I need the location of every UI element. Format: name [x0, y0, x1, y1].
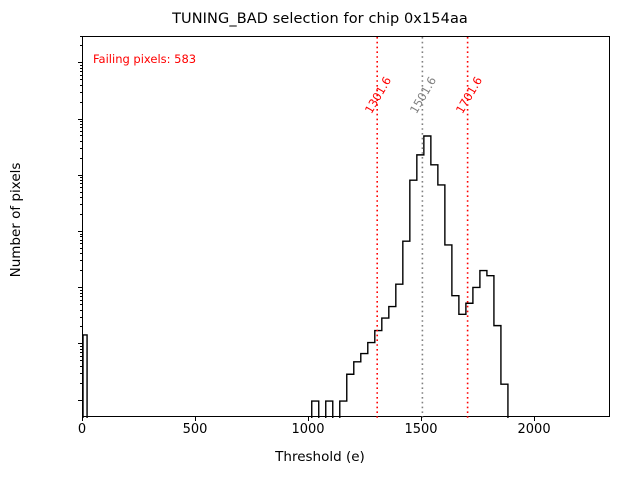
y-minor-tick-mark [80, 234, 83, 235]
y-minor-tick-mark [80, 352, 83, 353]
y-minor-tick-mark [80, 260, 83, 261]
y-minor-tick-mark [80, 304, 83, 305]
y-minor-tick-mark [80, 148, 83, 149]
x-tick-label: 2000 [518, 422, 551, 437]
y-minor-tick-mark [80, 300, 83, 301]
y-minor-tick-mark [80, 366, 83, 367]
y-minor-tick-mark [80, 373, 83, 374]
y-minor-tick-mark [80, 124, 83, 125]
chart-title: TUNING_BAD selection for chip 0x154aa [0, 11, 640, 27]
y-tick-mark [78, 231, 82, 232]
y-minor-tick-mark [80, 290, 83, 291]
y-minor-tick-mark [80, 85, 83, 86]
y-minor-tick-mark [80, 180, 83, 181]
y-tick-mark [78, 287, 82, 288]
y-minor-tick-mark [80, 135, 83, 136]
x-tick-mark [534, 417, 535, 421]
x-tick-mark [195, 417, 196, 421]
y-minor-tick-mark [80, 68, 83, 69]
y-minor-tick-mark [80, 131, 83, 132]
y-minor-tick-mark [80, 65, 83, 66]
y-minor-tick-mark [80, 296, 83, 297]
y-minor-tick-mark [80, 79, 83, 80]
x-tick-mark [421, 417, 422, 421]
x-axis-label: Threshold (e) [0, 449, 640, 465]
y-tick-mark [78, 400, 82, 401]
y-minor-tick-mark [80, 383, 83, 384]
y-minor-tick-mark [80, 204, 83, 205]
x-tick-label: 500 [183, 422, 208, 437]
y-minor-tick-mark [80, 177, 83, 178]
y-minor-tick-mark [80, 270, 83, 271]
y-minor-tick-mark [80, 36, 83, 37]
y-minor-tick-mark [80, 326, 83, 327]
y-minor-tick-mark [80, 141, 83, 142]
y-minor-tick-mark [80, 45, 83, 46]
failing-pixels-annotation: Failing pixels: 583 [93, 52, 196, 66]
y-minor-tick-mark [80, 197, 83, 198]
y-minor-tick-mark [80, 121, 83, 122]
y-minor-tick-mark [80, 346, 83, 347]
y-tick-mark [78, 175, 82, 176]
figure-canvas: TUNING_BAD selection for chip 0x154aa Fa… [0, 0, 640, 480]
y-minor-tick-mark [80, 317, 83, 318]
y-minor-tick-mark [80, 183, 83, 184]
y-minor-tick-mark [80, 92, 83, 93]
y-minor-tick-mark [80, 236, 83, 237]
y-tick-mark [78, 62, 82, 63]
y-minor-tick-mark [80, 293, 83, 294]
y-minor-tick-mark [80, 253, 83, 254]
y-tick-mark [78, 343, 82, 344]
y-minor-tick-mark [80, 240, 83, 241]
histogram-outline [83, 136, 508, 418]
x-tick-mark [308, 417, 309, 421]
plot-area[interactable]: Failing pixels: 583 [82, 36, 610, 417]
y-minor-tick-mark [80, 360, 83, 361]
histogram-plot [83, 37, 611, 418]
y-minor-tick-mark [80, 356, 83, 357]
y-axis-label: Number of pixels [8, 120, 24, 320]
y-minor-tick-mark [80, 187, 83, 188]
y-minor-tick-mark [80, 75, 83, 76]
y-minor-tick-mark [80, 71, 83, 72]
y-minor-tick-mark [80, 127, 83, 128]
y-minor-tick-mark [80, 349, 83, 350]
y-minor-tick-mark [80, 243, 83, 244]
y-minor-tick-mark [80, 214, 83, 215]
x-tick-label: 1000 [291, 422, 324, 437]
y-minor-tick-mark [80, 102, 83, 103]
x-tick-label: 0 [78, 422, 86, 437]
x-tick-mark [82, 417, 83, 421]
y-tick-mark [78, 119, 82, 120]
y-minor-tick-mark [80, 158, 83, 159]
y-minor-tick-mark [80, 248, 83, 249]
x-tick-label: 1500 [404, 422, 437, 437]
y-minor-tick-mark [80, 192, 83, 193]
y-minor-tick-mark [80, 310, 83, 311]
